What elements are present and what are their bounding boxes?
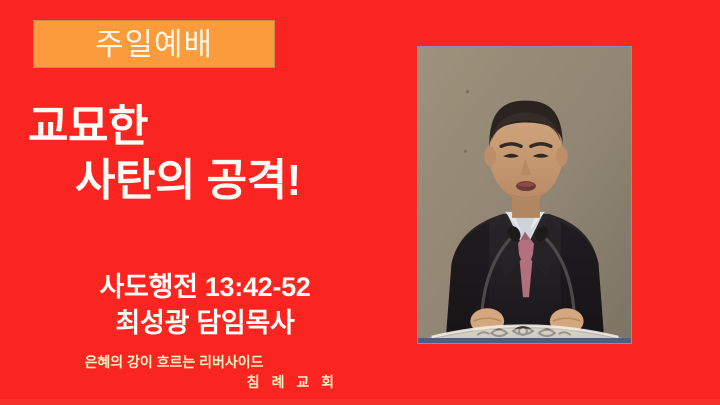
- church-identity: 은혜의 강이 흐르는 리버사이드 침 례 교 회: [0, 352, 348, 393]
- preacher-photo-image: [418, 47, 631, 343]
- photo-bottom-band: [418, 338, 631, 343]
- sermon-title-line-2: 사탄의 공격!: [75, 154, 400, 208]
- preacher-photo: [417, 46, 632, 344]
- slide-bottom-strip: [0, 399, 720, 405]
- sermon-meta: 사도행전 13:42-52 최성광 담임목사: [0, 270, 410, 342]
- sermon-title: 교묘한 사탄의 공격!: [0, 100, 400, 207]
- sermon-title-slide: 주일예배 교묘한 사탄의 공격! 사도행전 13:42-52 최성광 담임목사 …: [0, 0, 720, 405]
- preacher-photo-illustration: [418, 47, 631, 343]
- service-category-badge: 주일예배: [33, 20, 275, 68]
- church-name: 침 례 교 회: [0, 372, 348, 392]
- church-tagline: 은혜의 강이 흐르는 리버사이드: [0, 352, 348, 372]
- sermon-title-line-1: 교묘한: [28, 100, 400, 154]
- service-category-label: 주일예배: [95, 29, 213, 60]
- speaker-name: 최성광 담임목사: [0, 306, 410, 342]
- scripture-reference: 사도행전 13:42-52: [0, 270, 410, 306]
